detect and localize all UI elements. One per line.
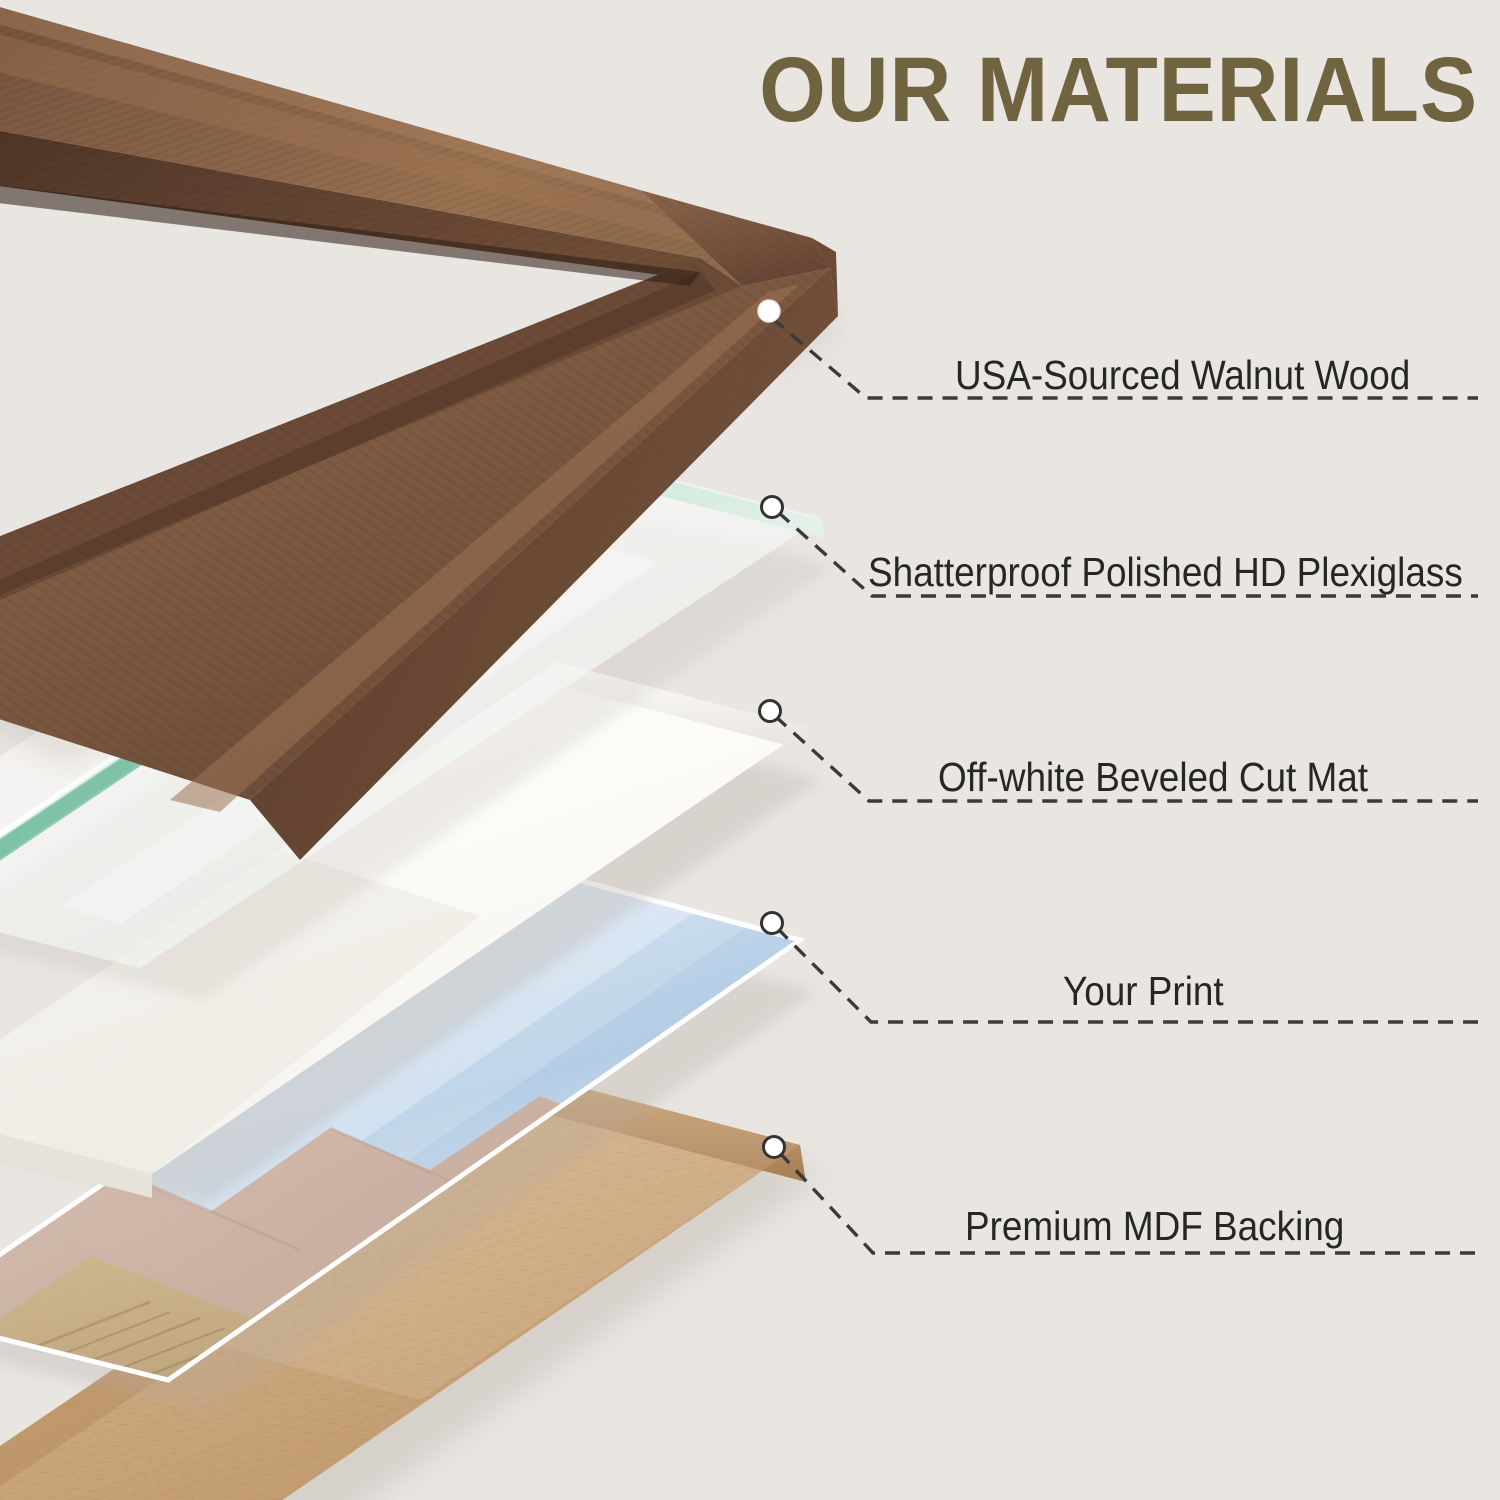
- callout-label-walnut-wood: USA-Sourced Walnut Wood: [955, 352, 1410, 399]
- callout-marker-walnut-wood[interactable]: [758, 300, 780, 322]
- callout-marker-plexiglass[interactable]: [762, 497, 783, 518]
- callout-label-print: Your Print: [1063, 968, 1224, 1015]
- materials-infographic: OUR MATERIALS: [0, 0, 1500, 1500]
- callout-label-mat: Off-white Beveled Cut Mat: [938, 754, 1368, 801]
- callout-label-plexiglass: Shatterproof Polished HD Plexiglass: [868, 549, 1463, 596]
- exploded-frame-illustration: [0, 0, 1500, 1500]
- callout-marker-mdf-backing[interactable]: [764, 1137, 785, 1158]
- callout-label-mdf-backing: Premium MDF Backing: [965, 1203, 1344, 1250]
- callout-marker-mat[interactable]: [760, 701, 781, 722]
- callout-marker-print[interactable]: [762, 913, 783, 934]
